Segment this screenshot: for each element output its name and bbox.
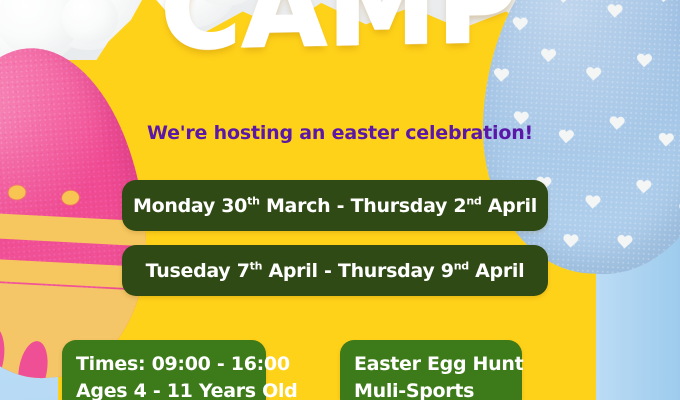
poster-content: CAMP We're hosting an easter celebration… (0, 0, 680, 400)
date-banner-first-text: Monday 30th March - Thursday 2nd April (133, 195, 537, 217)
date-banner-first: Monday 30th March - Thursday 2nd April (122, 180, 548, 231)
easter-camp-poster: CAMP We're hosting an easter celebration… (0, 0, 680, 400)
info-box-activities: Easter Egg Hunt Muli-Sports (340, 340, 522, 400)
page-title: CAMP (0, 0, 680, 69)
date-banner-second: Tuseday 7th April - Thursday 9nd April (122, 245, 548, 296)
activity-egg-hunt-text: Easter Egg Hunt (354, 351, 508, 378)
info-ages-text: Ages 4 - 11 Years Old (76, 378, 252, 400)
date-banner-second-text: Tuseday 7th April - Thursday 9nd April (146, 260, 525, 282)
info-box-details: Times: 09:00 - 16:00 Ages 4 - 11 Years O… (62, 340, 266, 400)
info-times-text: Times: 09:00 - 16:00 (76, 351, 252, 378)
subtitle-text: We're hosting an easter celebration! (0, 122, 680, 144)
activity-multi-sports-text: Muli-Sports (354, 378, 508, 400)
